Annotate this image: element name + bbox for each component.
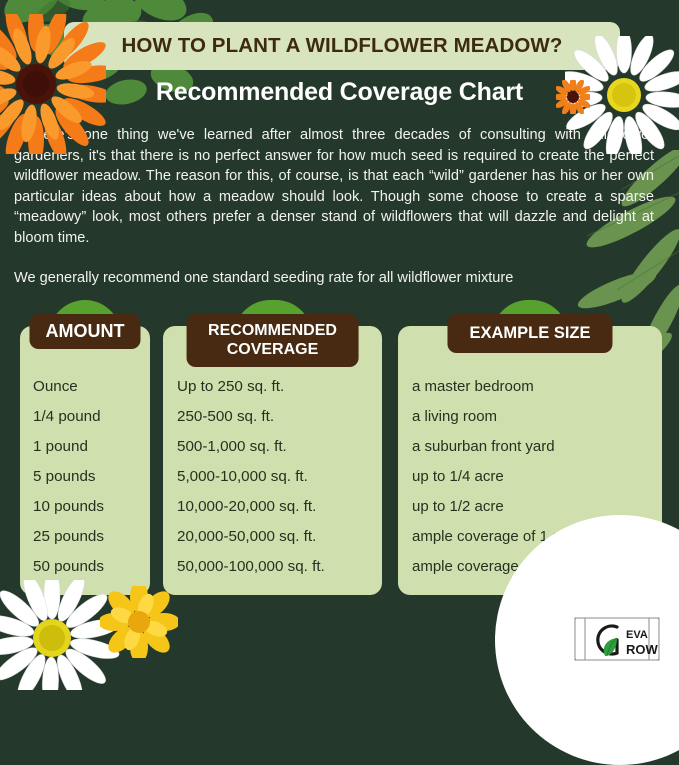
table-cell: a master bedroom: [412, 372, 662, 402]
page-title: HOW TO PLANT A WILDFLOWER MEADOW?: [122, 34, 563, 58]
table-cell: a suburban front yard: [412, 432, 662, 462]
header-line-2: COVERAGE: [227, 341, 319, 358]
table-cell: 50,000-100,000 sq. ft.: [177, 552, 382, 582]
column-header-amount: AMOUNT: [30, 314, 141, 349]
page-subtitle: Recommended Coverage Chart: [156, 78, 523, 107]
table-cell: 50 pounds: [33, 552, 150, 582]
intro-text-block: If there's one thing we've learned after…: [14, 125, 654, 288]
table-cell: 1 pound: [33, 432, 150, 462]
table-cell: 1/4 pound: [33, 402, 150, 432]
column-cells-coverage: Up to 250 sq. ft. 250-500 sq. ft. 500-1,…: [163, 372, 382, 582]
subtitle-row: Recommended Coverage Chart: [0, 78, 679, 107]
table-cell: Up to 250 sq. ft.: [177, 372, 382, 402]
table-cell: up to 1/4 acre: [412, 462, 662, 492]
column-cells-amount: Ounce 1/4 pound 1 pound 5 pounds 10 poun…: [20, 372, 150, 582]
table-cell: 5 pounds: [33, 462, 150, 492]
title-bar: HOW TO PLANT A WILDFLOWER MEADOW?: [64, 22, 620, 70]
table-cell: Ounce: [33, 372, 150, 402]
eva-grow-logo: EVA ROW: [571, 613, 663, 665]
header-line-1: RECOMMENDED: [208, 322, 337, 339]
column-header-recommended-coverage: RECOMMENDED COVERAGE: [186, 314, 359, 367]
table-cell: 5,000-10,000 sq. ft.: [177, 462, 382, 492]
logo-text-eva: EVA: [626, 629, 648, 641]
logo-text-row: ROW: [626, 642, 659, 657]
table-cell: a living room: [412, 402, 662, 432]
intro-paragraph-1: If there's one thing we've learned after…: [14, 125, 654, 249]
table-cell: 20,000-50,000 sq. ft.: [177, 522, 382, 552]
table-cell: 10,000-20,000 sq. ft.: [177, 492, 382, 522]
table-cell: 25 pounds: [33, 522, 150, 552]
table-cell: 10 pounds: [33, 492, 150, 522]
table-cell: 500-1,000 sq. ft.: [177, 432, 382, 462]
column-header-example-size: EXAMPLE SIZE: [447, 314, 612, 353]
table-cell: 250-500 sq. ft.: [177, 402, 382, 432]
intro-paragraph-2: We generally recommend one standard seed…: [14, 268, 654, 289]
